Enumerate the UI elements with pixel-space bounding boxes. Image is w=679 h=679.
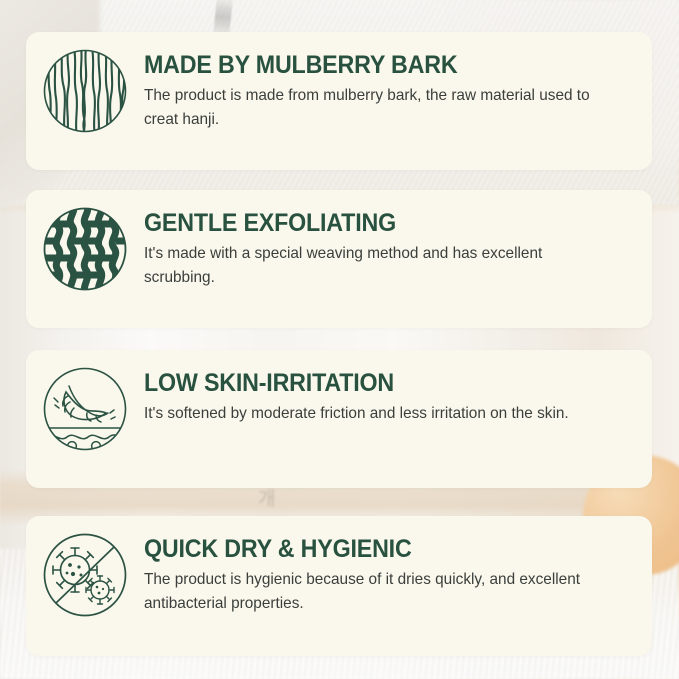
feature-text: GENTLE EXFOLIATING It's made with a spec… (144, 190, 652, 290)
feature-text: LOW SKIN-IRRITATION It's softened by mod… (144, 350, 652, 426)
mulberry-bark-icon (26, 32, 144, 134)
feature-card-low-skin-irritation[interactable]: LOW SKIN-IRRITATION It's softened by mod… (26, 350, 652, 488)
woven-weave-icon (26, 190, 144, 292)
feature-title: MADE BY MULBERRY BARK (144, 52, 600, 78)
feature-title: LOW SKIN-IRRITATION (144, 370, 600, 396)
feature-title: QUICK DRY & HYGIENIC (144, 536, 600, 562)
feature-card-list: MADE BY MULBERRY BARK The product is mad… (0, 0, 679, 679)
feature-card-gentle-exfoliating[interactable]: GENTLE EXFOLIATING It's made with a spec… (26, 190, 652, 328)
feature-description: It's made with a special weaving method … (144, 242, 595, 289)
feather-on-skin-icon (26, 350, 144, 452)
feature-description: It's softened by moderate friction and l… (144, 402, 595, 426)
feature-card-quick-dry-hygienic[interactable]: QUICK DRY & HYGIENIC The product is hygi… (26, 516, 652, 656)
feature-title: GENTLE EXFOLIATING (144, 210, 600, 236)
feature-description: The product is hygienic because of it dr… (144, 568, 603, 615)
feature-card-mulberry-bark[interactable]: MADE BY MULBERRY BARK The product is mad… (26, 32, 652, 170)
feature-text: MADE BY MULBERRY BARK The product is mad… (144, 32, 652, 132)
no-germs-icon (26, 516, 144, 618)
feature-description: The product is made from mulberry bark, … (144, 84, 595, 131)
product-feature-infographic: 개 (0, 0, 679, 679)
feature-text: QUICK DRY & HYGIENIC The product is hygi… (144, 516, 652, 616)
